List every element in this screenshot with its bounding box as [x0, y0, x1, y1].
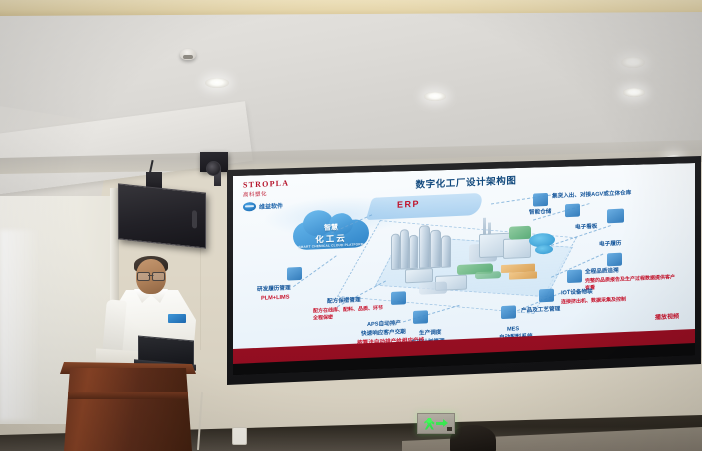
node-label: 全程品质追溯	[585, 268, 619, 277]
node-label-detail: 快速响应客户交期	[361, 329, 406, 339]
node-label: 智能仓储	[529, 209, 551, 218]
node-label: 配方保密管理	[327, 297, 361, 306]
downlight-icon	[424, 92, 446, 101]
wall-socket	[232, 427, 247, 445]
product-box-icon	[501, 305, 516, 319]
silo-shape	[409, 235, 418, 269]
downlight-icon	[623, 88, 645, 97]
kanban-screen-icon	[607, 209, 624, 224]
exit-sign-test-button[interactable]	[447, 427, 452, 431]
node-label: 集货入出、对接AGV或立体仓库	[552, 190, 631, 201]
connector-line	[403, 305, 460, 322]
rd-flask-icon	[287, 267, 302, 281]
process-tank	[419, 281, 447, 294]
green-area	[509, 226, 531, 240]
shirt-logo-icon	[168, 314, 186, 323]
forklift-icon	[565, 204, 580, 218]
play-video-link[interactable]: 播放视频	[655, 311, 679, 321]
node-label: 产品及工艺管理	[521, 306, 560, 315]
cloud-graphic: 智慧 化工云 SMART CHEMICAL CLOUD PLATFORM	[293, 209, 369, 252]
wall-speaker	[118, 183, 206, 248]
warehouse-truck-icon	[533, 193, 548, 207]
node-label-detail: 连接挤出机、数据采集及控制	[561, 296, 626, 306]
silo-shape	[400, 229, 409, 269]
audience-head	[450, 425, 496, 451]
storage-yard	[509, 271, 537, 279]
slide-title: 数字化工厂设计架构图	[361, 170, 571, 193]
node-label: IOT设备物联	[561, 289, 593, 298]
plant-building	[503, 238, 531, 259]
brand-cn-name: 高科塑化	[243, 188, 289, 198]
node-label: 研发履历管理	[257, 285, 291, 294]
eyeglasses-icon	[137, 272, 165, 279]
green-area	[475, 271, 501, 279]
wooden-podium	[64, 368, 192, 451]
node-label-detail: 完整的品质报告及生产过程数据提供客户查看	[585, 274, 677, 292]
schedule-person-icon	[413, 310, 428, 324]
quality-check-icon	[567, 269, 582, 283]
smoke-detector-icon	[180, 49, 196, 60]
node-label: APS自动排产	[367, 321, 401, 330]
door-light-glow	[0, 230, 40, 420]
plant-building	[405, 268, 433, 283]
node-label-detail: 配方在线库、配料、品质、环节全程保密	[313, 305, 387, 322]
podium-trim	[68, 392, 188, 399]
speaker-cone-icon	[192, 210, 197, 229]
silo-shape	[419, 225, 430, 268]
camera-lens-icon	[206, 161, 221, 176]
cloud-text-group: 智慧 化工云 SMART CHEMICAL CLOUD PLATFORM	[293, 223, 369, 250]
emergency-exit-sign	[417, 413, 455, 434]
node-label: 电子履历	[599, 241, 621, 250]
lens-left	[137, 272, 150, 281]
silo-shape	[441, 235, 451, 267]
node-label-detail: PLM+LIMS	[261, 294, 289, 303]
downlight-icon	[205, 78, 229, 88]
silo-shape	[391, 234, 400, 270]
formula-lock-icon	[391, 291, 406, 305]
led-screen[interactable]: STROPLA 高科塑化 维益软件 数字化工厂设计架构图 ERP 智慧 化工云 …	[233, 163, 695, 375]
node-label: MES	[507, 326, 519, 334]
partner-mark-icon	[243, 202, 256, 212]
lens-right	[152, 272, 165, 281]
iot-device-icon	[539, 289, 554, 303]
conference-room-photo: STROPLA 高科塑化 维益软件 数字化工厂设计架构图 ERP 智慧 化工云 …	[0, 0, 702, 451]
silo-shape	[430, 230, 441, 268]
node-label: 电子看板	[575, 224, 597, 233]
running-man-icon	[424, 418, 435, 430]
factory-illustration	[383, 210, 563, 304]
downlight-icon	[621, 57, 645, 68]
record-monitor-icon	[607, 253, 622, 267]
